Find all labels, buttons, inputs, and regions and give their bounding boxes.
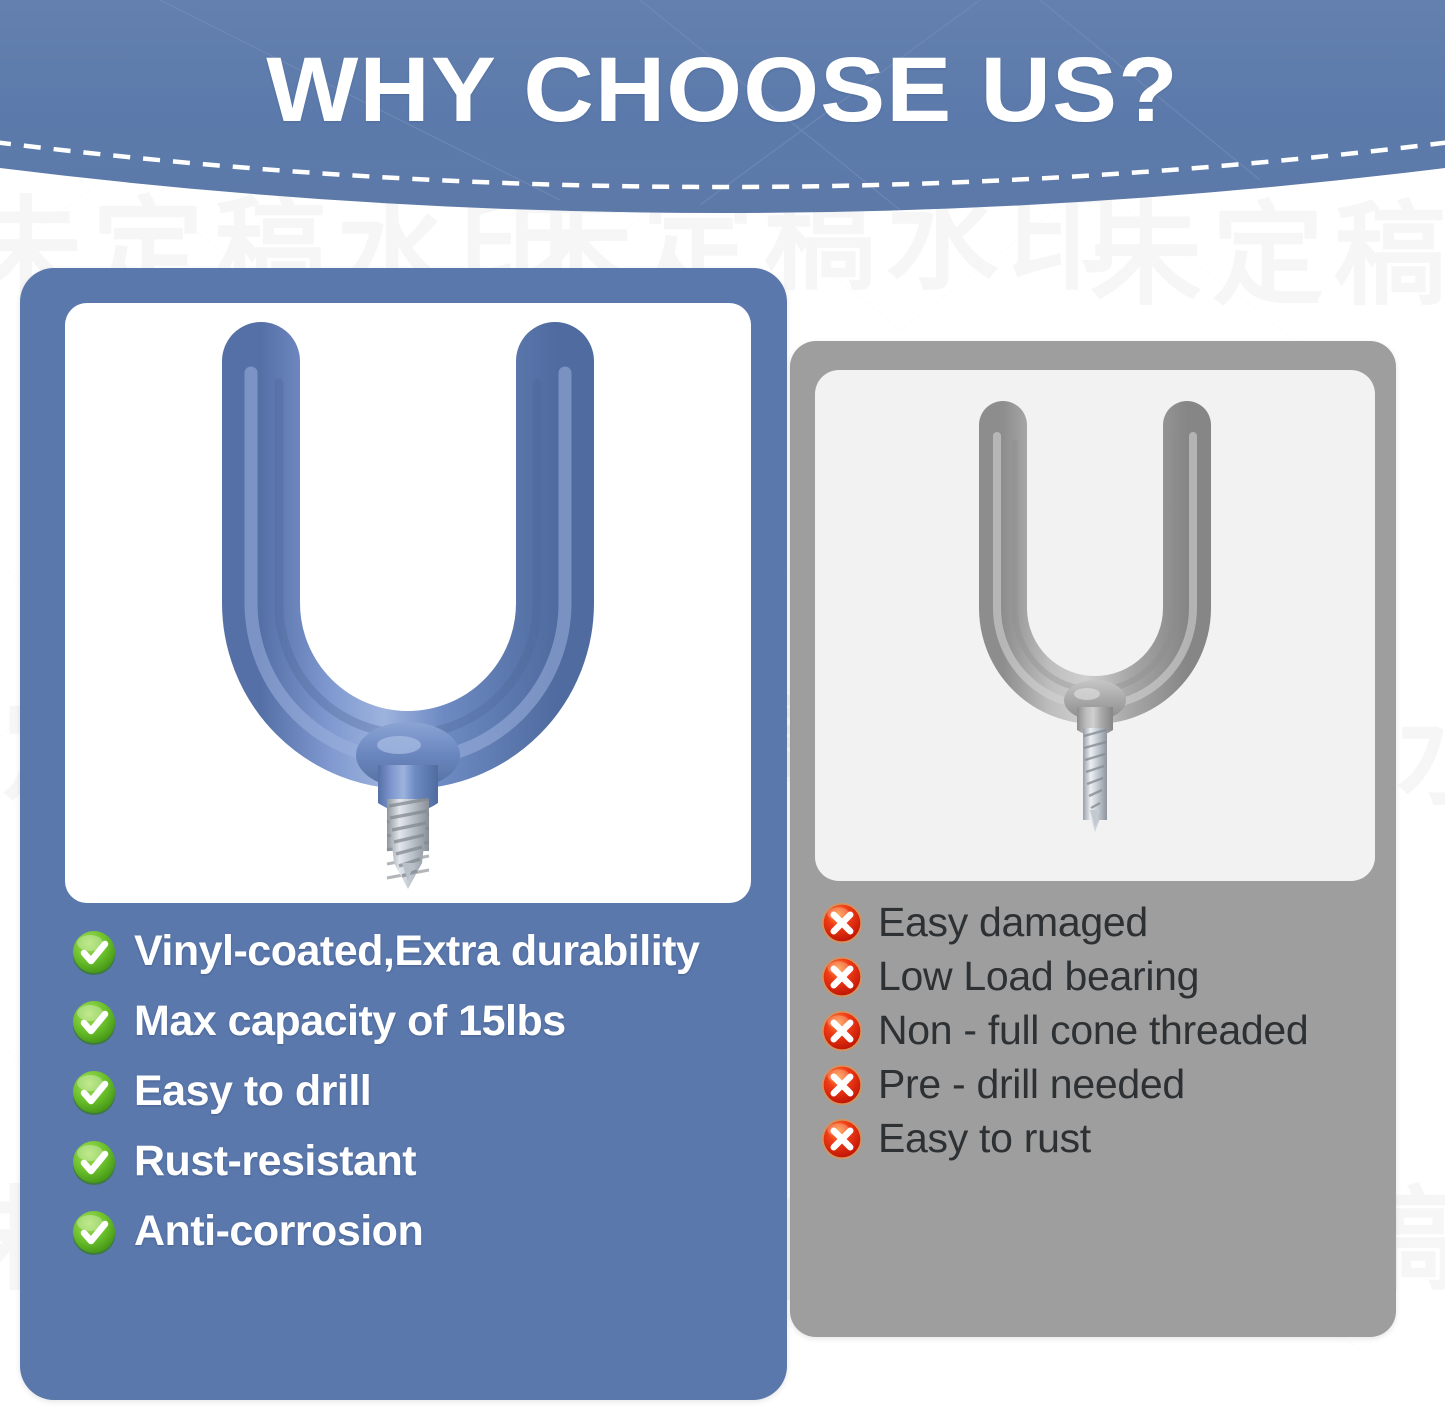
list-item: Max capacity of 15lbs — [70, 998, 790, 1046]
header-banner: WHY CHOOSE US? — [0, 0, 1445, 250]
page-title: WHY CHOOSE US? — [0, 38, 1445, 143]
green-check-icon — [70, 1138, 118, 1186]
list-item: Pre - drill needed — [820, 1063, 1400, 1107]
drawback-label: Non - full cone threaded — [878, 1009, 1308, 1052]
red-cross-icon — [820, 1009, 864, 1053]
list-item: Easy to drill — [70, 1068, 790, 1116]
other-product-drawback-list: Easy damaged Low Load bearing — [820, 901, 1400, 1171]
green-check-icon — [70, 928, 118, 976]
our-product-feature-list: Vinyl-coated,Extra durability Max capaci… — [70, 928, 790, 1278]
list-item: Rust-resistant — [70, 1138, 790, 1186]
list-item: Vinyl-coated,Extra durability — [70, 928, 790, 976]
red-cross-icon — [820, 1063, 864, 1107]
list-item: Easy damaged — [820, 901, 1400, 945]
feature-label: Anti-corrosion — [134, 1209, 423, 1254]
other-product-panel: Easy damaged Low Load bearing — [790, 341, 1396, 1337]
green-check-icon — [70, 1208, 118, 1256]
our-product-panel: Vinyl-coated,Extra durability Max capaci… — [20, 268, 787, 1400]
drawback-label: Easy to rust — [878, 1117, 1091, 1160]
red-cross-icon — [820, 1117, 864, 1161]
feature-label: Max capacity of 15lbs — [134, 999, 566, 1044]
drawback-label: Pre - drill needed — [878, 1063, 1185, 1106]
infographic-page: 未定稿水印 未定稿水印 未定稿水印 未定稿水印 未定稿水印 未定稿水印 未定稿水… — [0, 0, 1445, 1407]
feature-label: Vinyl-coated,Extra durability — [134, 929, 699, 974]
other-product-image-card — [815, 370, 1375, 881]
gray-hook-icon — [815, 370, 1375, 881]
feature-label: Easy to drill — [134, 1069, 371, 1114]
list-item: Non - full cone threaded — [820, 1009, 1400, 1053]
red-cross-icon — [820, 955, 864, 999]
green-check-icon — [70, 1068, 118, 1116]
drawback-label: Low Load bearing — [878, 955, 1199, 998]
hook-neck-highlight — [1074, 688, 1100, 700]
blue-hook-icon — [65, 303, 751, 903]
drawback-label: Easy damaged — [878, 901, 1148, 944]
feature-label: Rust-resistant — [134, 1139, 416, 1184]
list-item: Easy to rust — [820, 1117, 1400, 1161]
list-item: Anti-corrosion — [70, 1208, 790, 1256]
green-check-icon — [70, 998, 118, 1046]
hook-body — [261, 361, 555, 750]
red-cross-icon — [820, 901, 864, 945]
our-product-image-card — [65, 303, 751, 903]
list-item: Low Load bearing — [820, 955, 1400, 999]
hook-neck-highlight — [377, 736, 421, 754]
